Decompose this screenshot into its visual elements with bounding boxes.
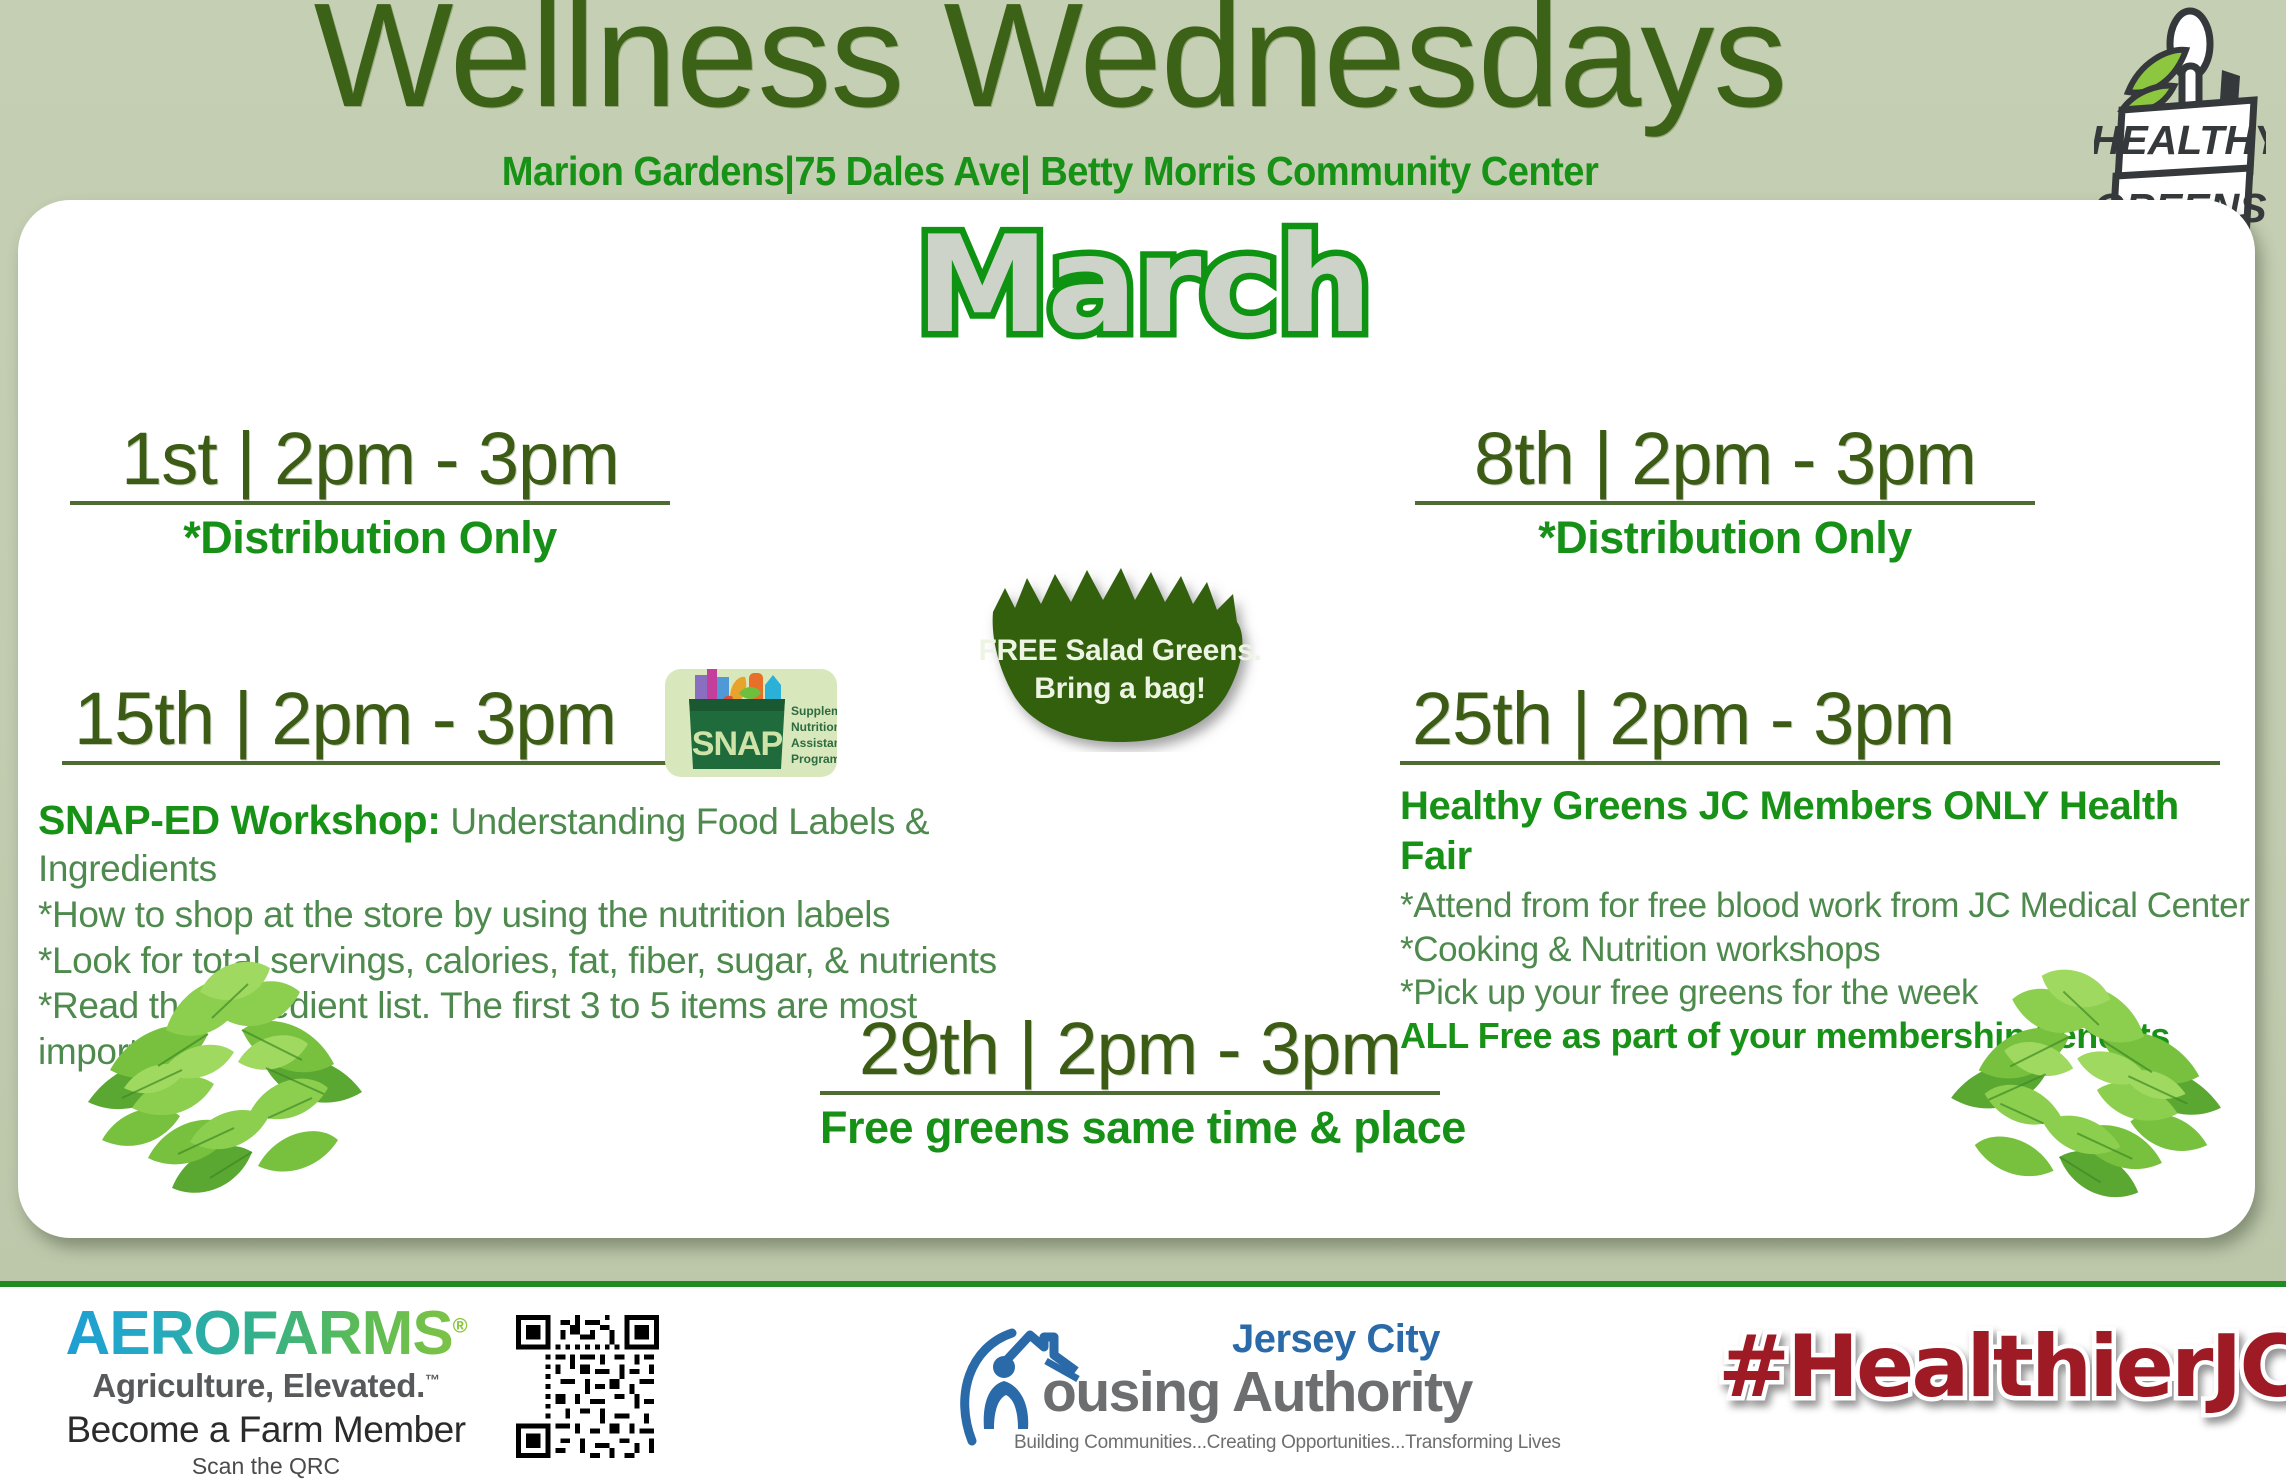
workshop-bullet: *How to shop at the store by using the n… bbox=[38, 892, 998, 938]
snap-wordmark: SNAP bbox=[692, 725, 783, 763]
event-heading: 15th | 2pm - 3pm bbox=[62, 680, 692, 758]
divider bbox=[820, 1091, 1440, 1095]
jcha-tagline: Building Communities...Creating Opportun… bbox=[1014, 1432, 1561, 1454]
become-farm-member-text: Become a Farm Member bbox=[36, 1409, 496, 1451]
snap-line-2: Nutrition bbox=[791, 720, 837, 734]
salad-greens-image-left bbox=[62, 952, 382, 1214]
flyer-header: Wellness Wednesdays Marion Gardens|75 Da… bbox=[0, 0, 2286, 200]
logo-line-1: HEALTHY bbox=[2094, 117, 2266, 163]
event-block-15th: 15th | 2pm - 3pm bbox=[62, 680, 692, 765]
healthfair-bullet: *Attend from for free blood work from JC… bbox=[1400, 884, 2260, 927]
aerofarms-logo-block: AEROFARMS® Agriculture, Elevated.™ Becom… bbox=[36, 1303, 496, 1480]
divider bbox=[70, 501, 670, 505]
leaf-cluster bbox=[88, 962, 362, 1193]
trademark-icon: ™ bbox=[425, 1372, 440, 1389]
event-subtext: *Distribution Only bbox=[1415, 512, 2035, 564]
event-heading: 29th | 2pm - 3pm bbox=[820, 1010, 1440, 1088]
scan-qrc-text: Scan the QRC bbox=[36, 1453, 496, 1480]
qr-code[interactable] bbox=[516, 1315, 659, 1458]
flyer-canvas: Wellness Wednesdays Marion Gardens|75 Da… bbox=[0, 0, 2286, 1480]
event-block-1st: 1st | 2pm - 3pm *Distribution Only bbox=[70, 420, 670, 564]
free-salad-greens-badge: FREE Salad Greens. Bring a bag! bbox=[975, 560, 1265, 752]
event-subtext: *Distribution Only bbox=[70, 512, 670, 564]
registered-mark-icon: ® bbox=[453, 1315, 467, 1337]
event-block-29th: 29th | 2pm - 3pm Free greens same time &… bbox=[820, 1010, 1440, 1154]
page-title: Wellness Wednesdays bbox=[0, 0, 2100, 130]
jcha-housing-authority-text: ousing Authority bbox=[1042, 1359, 1472, 1425]
footer-bar: AEROFARMS® Agriculture, Elevated.™ Becom… bbox=[0, 1287, 2286, 1480]
snap-line-4: Program bbox=[791, 752, 837, 766]
jersey-city-housing-authority-logo: Jersey City ousing Authority Building Co… bbox=[960, 1303, 1500, 1473]
divider bbox=[1400, 761, 2220, 765]
salad-greens-image-right bbox=[1930, 960, 2248, 1218]
snap-line-3: Assistance bbox=[791, 736, 837, 750]
workshop-lead-bold: SNAP-ED Workshop: bbox=[38, 797, 440, 843]
snap-line-1: Supplemental bbox=[791, 704, 837, 718]
healthier-jc-hashtag: #HealthierJC bbox=[1718, 1317, 2258, 1417]
event-heading: 25th | 2pm - 3pm bbox=[1400, 680, 2220, 758]
month-heading: March bbox=[0, 218, 2286, 352]
event-heading: 1st | 2pm - 3pm bbox=[70, 420, 670, 498]
lettuce-bowl-shape bbox=[993, 568, 1243, 742]
divider bbox=[62, 761, 692, 765]
snap-logo: SNAP Supplemental Nutrition Assistance P… bbox=[665, 663, 837, 779]
venue-subtitle: Marion Gardens|75 Dales Ave| Betty Morri… bbox=[74, 148, 2027, 195]
event-block-8th: 8th | 2pm - 3pm *Distribution Only bbox=[1415, 420, 2035, 564]
jcha-jersey-city-text: Jersey City bbox=[1232, 1317, 1440, 1362]
aerofarms-wordmark-text: AEROFARMS bbox=[66, 1299, 453, 1368]
leaf-cluster bbox=[1951, 970, 2221, 1198]
event-heading: 8th | 2pm - 3pm bbox=[1415, 420, 2035, 498]
aerofarms-tagline: Agriculture, Elevated.™ bbox=[36, 1367, 496, 1405]
divider bbox=[1415, 501, 2035, 505]
healthfair-lead-bold: Healthy Greens JC Members ONLY Health Fa… bbox=[1400, 782, 2260, 881]
aerofarms-tagline-text: Agriculture, Elevated. bbox=[92, 1367, 425, 1404]
event-block-25th: 25th | 2pm - 3pm bbox=[1400, 680, 2220, 765]
event-subtext: Free greens same time & place bbox=[820, 1102, 1440, 1154]
aerofarms-wordmark: AEROFARMS® bbox=[36, 1303, 496, 1365]
